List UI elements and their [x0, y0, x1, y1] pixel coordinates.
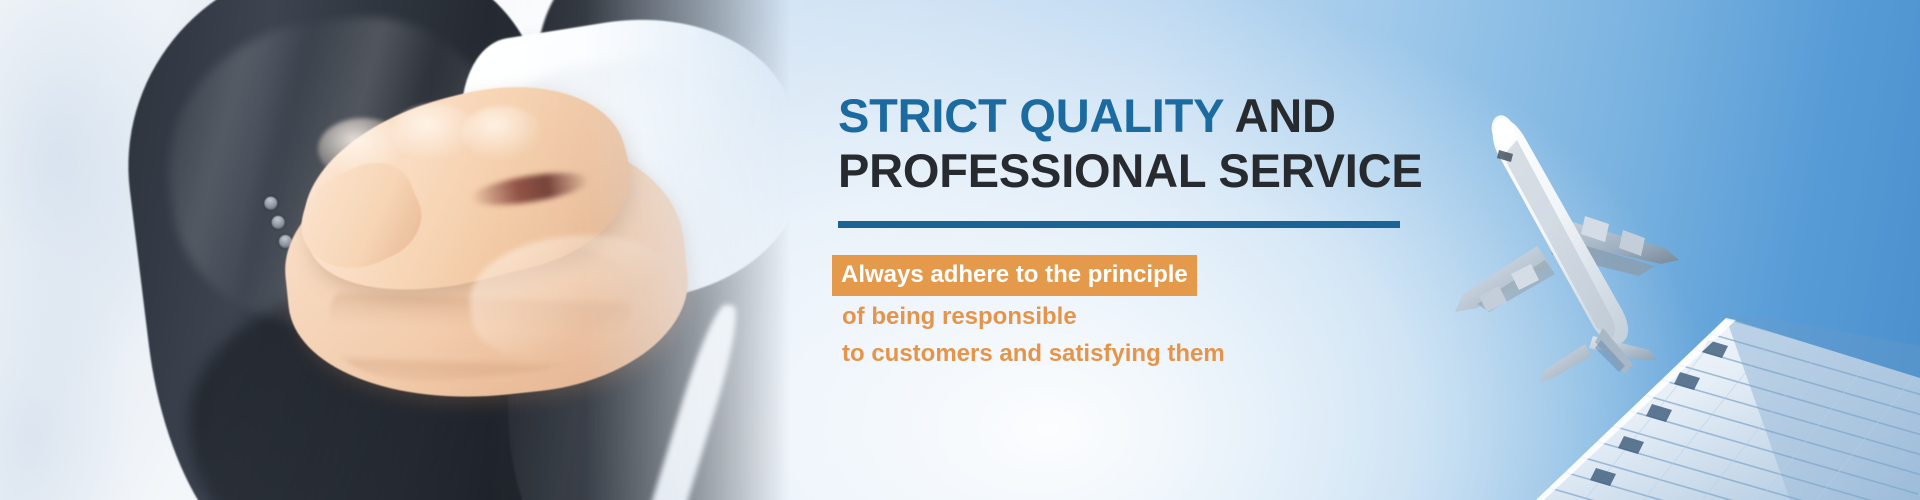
headline-line-2: PROFESSIONAL SERVICE — [838, 143, 1598, 198]
headline: STRICT QUALITY AND PROFESSIONAL SERVICE — [838, 88, 1598, 199]
headline-conjunction: AND — [1235, 89, 1336, 142]
headline-line-1: STRICT QUALITY AND — [838, 88, 1598, 143]
divider-rule — [838, 221, 1400, 228]
knuckle — [462, 106, 542, 160]
subtitle: Always adhere to the principle of being … — [838, 255, 1598, 371]
subtitle-line-1-highlight: Always adhere to the principle — [832, 255, 1197, 296]
promo-banner: STRICT QUALITY AND PROFESSIONAL SERVICE … — [0, 0, 1920, 500]
subtitle-line-3: to customers and satisfying them — [838, 337, 1598, 371]
subtitle-line-2: of being responsible — [838, 300, 1598, 334]
cuff-button — [269, 214, 286, 231]
banner-copy: STRICT QUALITY AND PROFESSIONAL SERVICE … — [838, 88, 1598, 371]
headline-accent-text: STRICT QUALITY — [838, 89, 1223, 142]
handshake-photo — [0, 0, 790, 500]
